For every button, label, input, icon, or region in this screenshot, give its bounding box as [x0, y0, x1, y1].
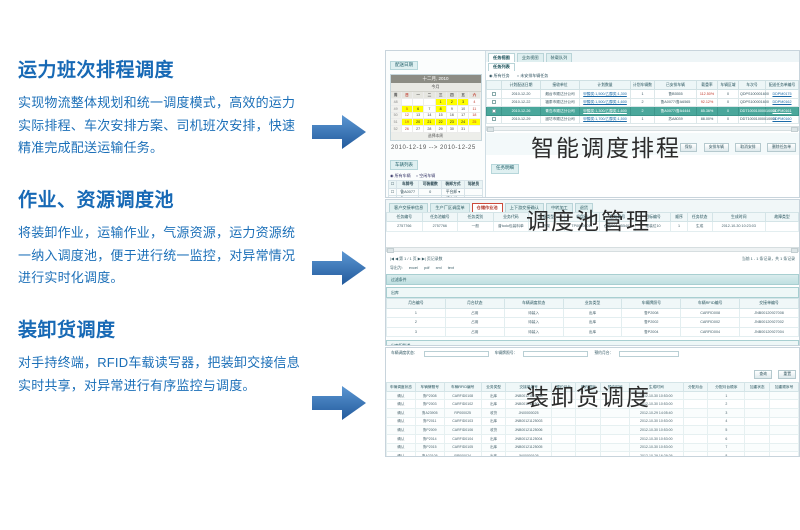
arrow-right-icon	[310, 112, 368, 152]
cell-load-rate: 92.12%	[697, 98, 718, 107]
col-weigh-order: 加重顺序号	[770, 383, 799, 392]
cell-plan-vehicles: 1	[631, 89, 655, 98]
cell-dispatch-status: 确认	[387, 452, 416, 457]
cell-booked-time	[601, 417, 630, 426]
cell-assigned-dock	[683, 391, 708, 400]
col-plate: 车牌号	[397, 181, 419, 189]
calendar-grid[interactable]: 周日一二 三四五六 481234 49567891011 50121314151…	[391, 92, 481, 132]
cell-business-type: 出库	[481, 443, 506, 452]
cell-task-status: 生成	[687, 222, 712, 231]
search-button[interactable]: 查询	[754, 370, 772, 379]
cell-weigh-status	[745, 443, 770, 452]
filter-label-dock: 预约月台：	[594, 351, 613, 357]
tab-task-view[interactable]: 任务视图	[488, 53, 515, 62]
col-vehicle-plate: 车辆牌照号	[622, 299, 681, 309]
cell-rfid: CARFID0104	[444, 434, 481, 443]
filter-input-plate[interactable]	[523, 351, 588, 357]
cell-weigh-status	[745, 434, 770, 443]
tab-plant-dispatch[interactable]: 生产厂区调度单	[430, 203, 469, 212]
cell-weigh-status	[745, 409, 770, 418]
cell-dock-status: 占用	[445, 308, 504, 317]
cell-area: 0	[718, 107, 739, 116]
table-row-selected[interactable]: 2010-12-26 青岛市顺达分公司 甲醇类:1,300/乙醇类:1,600 …	[487, 107, 799, 116]
cancel-assign-button[interactable]: 取消安排	[735, 143, 760, 152]
cell-plan-qty[interactable]: 甲醇类:1,300/乙醇类:1,600	[583, 109, 627, 113]
cell-booked-dock	[551, 426, 576, 435]
cell-create-time: 2012-10-30 10:23:03	[712, 222, 766, 231]
cell-business-type: 出库	[563, 308, 622, 317]
cell-plan-qty[interactable]: 甲醇类:1,500/乙醇类:1,300	[583, 92, 627, 96]
tab-load-queue[interactable]: 装载队列	[546, 53, 573, 62]
feature-description: 实现物流整体规划和统一调度模式，高效的运力实际排程、车次安排方案、司机班次安排，…	[18, 92, 300, 160]
cell-rfid: RP000024	[444, 452, 481, 457]
cell-booked-dock	[551, 452, 576, 457]
cell-plate: 鲁P2002	[622, 318, 681, 327]
scheduling-grid[interactable]: 计划配送日期 接收单位 计划数量 计划车辆数 已安排车辆 载重率 车辆区域 车次…	[486, 80, 799, 124]
cell-pool-no: 2757766	[422, 222, 458, 231]
task-filter-radios[interactable]: ◉ 所有任务 ○ 未安排车辆任务	[486, 71, 799, 80]
cell-business-type: 出库	[481, 417, 506, 426]
cell-dispatch-status: 待装入	[504, 308, 563, 317]
vehicle-table[interactable]: ☐ 车牌号 可装载数 装卸方式 驾驶员 ☐鲁A0077 0平台卸 ▾ ☐鲁B55…	[388, 180, 483, 198]
cell-handover-no: JNB00121125004	[506, 434, 551, 443]
cell-assigned-dock	[683, 443, 708, 452]
radio-idle-vehicles[interactable]: ○ 空闲车辆	[416, 173, 436, 178]
cell-assigned-order: 2	[708, 400, 745, 409]
cell-booked-order	[576, 426, 601, 435]
cell-receiver: 烟台市顺达分公司	[541, 89, 580, 98]
cell-dispatch-status: 确认	[387, 434, 416, 443]
delete-order-button[interactable]: 删除任务单	[767, 143, 796, 152]
table-row[interactable]: 2010-12-29 潍坊市顺达分公司 甲醇类:1,700/乙醇类:1,500 …	[487, 115, 799, 124]
filter-input-dispatch-status[interactable]	[424, 351, 489, 357]
cell-plate: 鲁P2015	[415, 443, 444, 452]
cell-receiver: 青岛市顺达分公司	[541, 107, 580, 116]
cell-rfid: CARFID002	[681, 318, 740, 327]
overlay-label-loading-dispatch: 装卸货调度	[526, 378, 651, 412]
cell-dispatch-status: 确认	[387, 443, 416, 452]
screenshot-dispatch-pool[interactable]: 客户交接单信息 生产厂区调度单 仓储作业池 上下游交接确认 中转加工 退货 任务…	[385, 199, 800, 346]
table-header-row: 月台编号 月台状态 车辆调度状态 业务类型 车辆牌照号 车辆RFID编号 交接单…	[387, 299, 799, 309]
cell-weigh-status	[745, 426, 770, 435]
radio-all-vehicles[interactable]: ◉ 所有车辆	[390, 173, 411, 178]
arrow-right-icon	[310, 383, 368, 423]
cell-plate: 鲁A23105	[415, 452, 444, 457]
cell-trip: QDPS100001600	[739, 89, 766, 98]
cell-plan-qty[interactable]: 甲醇类:1,700/乙醇类:1,500	[583, 117, 627, 121]
cell-weigh-status	[745, 452, 770, 457]
cell-plan-date: 2010-12-20	[502, 89, 541, 98]
table-row[interactable]: 确认 鲁P2011 CARFID0103 出库 JNB00121125003 2…	[387, 417, 799, 426]
cell-plate: 鲁P2009	[415, 426, 444, 435]
cell-assigned-order: 1	[708, 391, 745, 400]
table-row[interactable]: 确认 鲁P2014 CARFID0104 出库 JNB00121125004 2…	[387, 434, 799, 443]
cell-create-time: 2012-10-29 16:29:26	[630, 452, 684, 457]
col-order-no: 配送任务单编号	[766, 81, 799, 90]
reset-button[interactable]: 重置	[778, 370, 796, 379]
cell-assigned: 鲁B5555	[655, 89, 697, 98]
table-row[interactable]: 2010-12-22 福泰市顺达分公司 甲醇类:1,500/乙醇类:1,600 …	[487, 98, 799, 107]
col-dispatch-status: 车辆调度状态	[387, 383, 416, 392]
cell-trip: QDPS100001600	[739, 98, 766, 107]
cell-booked-time	[601, 434, 630, 443]
task-subtabbar[interactable]: 任务列表	[486, 62, 799, 72]
table-row[interactable]: 1 占用 待装入 出库 鲁P2008 CARFID008 JNB00120927…	[387, 308, 799, 317]
col-weigh-status: 加重状态	[745, 383, 770, 392]
cell-task-type: 一般	[458, 222, 494, 231]
cell-assigned-order: 5	[708, 426, 745, 435]
col-loadtype: 装卸方式	[442, 181, 465, 189]
col-task-type: 任务类别	[458, 212, 494, 222]
col-task-status: 任务状态	[687, 212, 712, 222]
cell-load-rate: 112.50%	[697, 89, 718, 98]
cell-weigh-order	[770, 434, 799, 443]
table-header-row: ☐ 车牌号 可装载数 装卸方式 驾驶员	[389, 181, 483, 189]
feature-block-transport-scheduling: 运力班次排程调度 实现物流整体规划和统一调度模式，高效的运力实际排程、车次安排方…	[18, 60, 300, 160]
cell-create-time: 2012-10-30 10:53:00	[630, 434, 684, 443]
cell-create-time: 2012-10-30 10:53:00	[630, 443, 684, 452]
cell-dock-status: 占用	[445, 318, 504, 327]
cell-plan-vehicles: 1	[631, 115, 655, 124]
screenshot-scheduling[interactable]: 配送日期 十二月, 2010 今月 周日一二 三四五六 481234 49567…	[385, 50, 800, 198]
cell-assigned-order: 7	[708, 443, 745, 452]
overlay-label-dispatch-pool: 调度池管理	[526, 202, 651, 236]
cell-handover-no: JNB00121125003	[506, 417, 551, 426]
cell-weigh-status	[745, 400, 770, 409]
cell-create-time: 2012-10-30 10:53:00	[630, 417, 684, 426]
cell-business-type: 出库	[481, 434, 506, 443]
arrow-right-icon	[310, 248, 368, 288]
cell-handover-no: JNB00120927008	[740, 308, 799, 317]
cell-dispatch-status: 确认	[387, 409, 416, 418]
pagination-bar[interactable]: |◀ ◀ 第 1 / 1 页 ▶ ▶| 页记录数 当前 1 - 1 条记录，共 …	[386, 254, 799, 264]
outbound-section-bar[interactable]: 出库	[386, 287, 799, 298]
calendar-footer[interactable]: 选择本周	[391, 133, 481, 140]
cell-trip: DDT10001000010001	[739, 107, 766, 116]
export-text[interactable]: text	[448, 265, 454, 270]
screenshot-stack: 配送日期 十二月, 2010 今月 周日一二 三四五六 481234 49567…	[385, 50, 800, 465]
cell-receiver: 潍坊市顺达分公司	[541, 115, 580, 124]
cell-plan-vehicles: 2	[631, 107, 655, 116]
cell-booked-order	[576, 443, 601, 452]
cell-trip: DDT10001000010001	[739, 115, 766, 124]
export-xml[interactable]: xml	[436, 265, 442, 270]
radio-all-tasks[interactable]: ◉ 所有任务	[489, 73, 510, 78]
cell-assigned-dock	[683, 400, 708, 409]
cell-dock-no: 3	[387, 327, 446, 336]
filter-label-plate: 车辆牌照号：	[495, 351, 518, 357]
cell-dock-no: 2	[387, 318, 446, 327]
cell-assigned-order: 8	[708, 452, 745, 457]
table-row[interactable]: ☐鲁A0077 0平台卸 ▾	[389, 188, 483, 196]
cell-assigned-order: 6	[708, 434, 745, 443]
cell-plan-date: 2010-12-29	[502, 115, 541, 124]
cell-business-type: 出库	[481, 400, 506, 409]
col-plan-vehicles: 计划车辆数	[631, 81, 655, 90]
table-row[interactable]: 2010-12-20 烟台市顺达分公司 甲醇类:1,500/乙醇类:1,300 …	[487, 89, 799, 98]
cell-booked-time	[601, 443, 630, 452]
col-plan-qty: 计划数量	[580, 81, 631, 90]
col-select	[487, 81, 502, 90]
cell-rfid: CARFID0105	[444, 443, 481, 452]
cell-handover-no: JNB00121125005	[506, 443, 551, 452]
cell-dispatch-status: 确认	[387, 391, 416, 400]
table-row[interactable]: 确认 鲁A23105 RP000024 出库 JN00000105 2012-1…	[387, 452, 799, 457]
cell-assigned: 苏A8039	[655, 115, 697, 124]
panel-title-vehicle-list: 车辆列表	[390, 160, 418, 170]
col-assigned-vehicles: 已安排车辆	[655, 81, 697, 90]
cell-assigned-dock	[683, 426, 708, 435]
cell-rfid: CARFID008	[681, 308, 740, 317]
col-plate: 车辆牌照号	[415, 383, 444, 392]
cell-fault-type	[766, 222, 799, 231]
col-handover-no: 交接单编号	[740, 299, 799, 309]
col-assigned-dock: 分配月台	[683, 383, 708, 392]
task-detail-button[interactable]: 任务明细	[491, 164, 519, 174]
cell-booked-order	[576, 452, 601, 457]
cell-plate: 鲁P2004	[622, 327, 681, 336]
screenshot-loading-dispatch[interactable]: 车辆调度状态： 车辆牌照号： 预约月台： 查询 重置 车辆调度状态 车辆牌照号 …	[385, 347, 800, 457]
table-row[interactable]: 3 占用 待装入 出库 鲁P2004 CARFID004 JNB00120927…	[387, 327, 799, 336]
cell-booked-dock	[551, 417, 576, 426]
tab-business-view[interactable]: 业务视图	[517, 53, 544, 62]
col-receiver: 接收单位	[541, 81, 580, 90]
cell-weigh-order	[770, 409, 799, 418]
cell-weigh-order	[770, 400, 799, 409]
cell-plan-date: 2010-12-26	[502, 107, 541, 116]
cell-rfid: CARFID0102	[444, 400, 481, 409]
pager-summary: 当前 1 - 1 条记录，共 1 条记录	[742, 256, 795, 262]
cell-plate: 鲁P2014	[415, 434, 444, 443]
cell-dock-status: 占用	[445, 327, 504, 336]
export-label: 导出为:	[390, 265, 403, 270]
cell-business-type: 出库	[563, 318, 622, 327]
cell-business-type: 收货	[481, 426, 506, 435]
cell-rfid: RP000025	[444, 409, 481, 418]
table-row[interactable]: 确认 鲁P2009 CARFID0106 收货 JNB00121125006 2…	[387, 426, 799, 435]
cell-business-type: 收货	[481, 409, 506, 418]
cell-rfid: CARFID0106	[444, 426, 481, 435]
horizontal-scrollbar[interactable]	[386, 247, 799, 252]
col-plan-date: 计划配送日期	[502, 81, 541, 90]
cell-handover-no: JNB00120927004	[740, 327, 799, 336]
cell-booked-time	[601, 426, 630, 435]
subtab-task-list[interactable]: 任务列表	[488, 63, 515, 72]
task-tabbar[interactable]: 任务视图 业务视图 装载队列	[486, 51, 799, 62]
feature-title: 运力班次排程调度	[18, 60, 300, 83]
loading-filter-row[interactable]: 车辆调度状态： 车辆牌照号： 预约月台：	[386, 348, 799, 360]
col-vehicle-dispatch-status: 车辆调度状态	[504, 299, 563, 309]
cell-weigh-order	[770, 426, 799, 435]
cell-order[interactable]: DDPM0175	[772, 92, 791, 96]
calendar-title: 十二月, 2010	[391, 75, 481, 83]
cell-plan-date: 2010-12-22	[502, 98, 541, 107]
cell-order[interactable]: DDPM0162	[772, 100, 791, 104]
cell-business-type: 出库	[481, 391, 506, 400]
calendar-widget[interactable]: 十二月, 2010 今月 周日一二 三四五六 481234 4956789101…	[390, 74, 482, 140]
calendar-subtitle[interactable]: 今月	[391, 83, 481, 92]
assign-vehicle-button[interactable]: 安排车辆	[704, 143, 729, 152]
col-biz-code: 业务代码	[493, 212, 529, 222]
dock-pool-grid[interactable]: 月台编号 月台状态 车辆调度状态 业务类型 车辆牌照号 车辆RFID编号 交接单…	[386, 298, 799, 337]
cell-weigh-order	[770, 443, 799, 452]
col-driver: 驾驶员	[464, 181, 482, 189]
table-header-row: 计划配送日期 接收单位 计划数量 计划车辆数 已安排车辆 载重率 车辆区域 车次…	[487, 81, 799, 90]
cell-load-rate: 85.36%	[697, 107, 718, 116]
col-task-no: 任务编号	[387, 212, 423, 222]
cell-plate: 鲁P2008	[415, 391, 444, 400]
col-dock-status: 月台状态	[445, 299, 504, 309]
cell-plate: 鲁P2003	[415, 400, 444, 409]
cell-area: 0	[718, 115, 739, 124]
cell-dispatch-status: 待装入	[504, 318, 563, 327]
cell-area: 0	[718, 89, 739, 98]
col-pool-no: 任务池编号	[422, 212, 458, 222]
export-excel[interactable]: excel	[409, 265, 418, 270]
feature-title: 作业、资源调度池	[18, 190, 300, 213]
feature-description: 对手持终端，RFID车载读写器，把装卸交接信息实时共享，对异常进行有序监控与调度…	[18, 352, 300, 398]
cell-assigned-order: 4	[708, 417, 745, 426]
radio-unassigned-tasks[interactable]: ○ 未安排车辆任务	[517, 73, 549, 78]
cell-assigned: 鲁A0077/鲁A4444	[655, 107, 697, 116]
cell-assigned-dock	[683, 452, 708, 457]
cell-load-rate: 88.00%	[697, 115, 718, 124]
col-business-type: 业务类型	[563, 299, 622, 309]
col-dock-no: 月台编号	[387, 299, 446, 309]
cell-dispatch-status: 待装入	[504, 327, 563, 336]
cell-dispatch-status: 确认	[387, 400, 416, 409]
cell-plan-qty[interactable]: 甲醇类:1,500/乙醇类:1,600	[583, 100, 627, 104]
cell-rfid: CARFID0108	[444, 391, 481, 400]
table-row[interactable]: 2 占用 待装入 出库 鲁P2002 CARFID002 JNB00120927…	[387, 318, 799, 327]
cell-create-time: 2012-10-30 10:53:00	[630, 426, 684, 435]
export-pdf[interactable]: pdf	[424, 265, 429, 270]
delivery-date-panel[interactable]: 配送日期 十二月, 2010 今月 周日一二 三四五六 481234 49567…	[386, 51, 486, 197]
cell-weigh-order	[770, 452, 799, 457]
cell-rfid: CARFID004	[681, 327, 740, 336]
cell-receiver: 福泰市顺达分公司	[541, 98, 580, 107]
cell-assigned-dock	[683, 417, 708, 426]
filter-conditions-bar[interactable]: 过滤条件	[386, 274, 799, 285]
cell-handover-no: JNB00121125006	[506, 426, 551, 435]
cell-handover-no: JN00000105	[506, 452, 551, 457]
cell-assigned-dock	[683, 409, 708, 418]
cell-booked-dock	[551, 443, 576, 452]
cell-business-type: 出库	[563, 327, 622, 336]
col-vehicle-rfid: 车辆RFID编号	[681, 299, 740, 309]
tab-customer-handover[interactable]: 客户交接单信息	[389, 203, 428, 212]
cell-booked-time	[601, 452, 630, 457]
col-business-type: 业务类型	[481, 383, 506, 392]
cell-task-no: 2757766	[387, 222, 423, 231]
task-view-panel[interactable]: 任务视图 业务视图 装载队列 任务列表 ◉ 所有任务 ○ 未安排车辆任务 计划配…	[486, 51, 799, 197]
cell-assigned-dock	[683, 434, 708, 443]
table-row[interactable]: 确认 鲁P2015 CARFID0105 出库 JNB00121125005 2…	[387, 443, 799, 452]
filter-input-dock[interactable]	[619, 351, 679, 357]
col-vehicle-area: 车辆区域	[718, 81, 739, 90]
cell-order: 1	[671, 222, 687, 231]
feature-title: 装卸货调度	[18, 320, 300, 343]
outbound-lane-bar[interactable]: 出库配货道	[386, 340, 799, 346]
cell-assigned: 鲁A0077/鲁A6565	[655, 98, 697, 107]
cell-plan-vehicles: 2	[631, 98, 655, 107]
cell-plate: 鲁A23905	[415, 409, 444, 418]
col-load-rate: 载重率	[697, 81, 718, 90]
panel-title-delivery-date: 配送日期	[390, 61, 418, 71]
col-rfid: 车辆RFID编号	[444, 383, 481, 392]
cell-booked-dock	[551, 434, 576, 443]
cell-weigh-order	[770, 417, 799, 426]
col-create-time: 生成时间	[712, 212, 766, 222]
cell-weigh-status	[745, 391, 770, 400]
table-row[interactable]: ☐鲁B5555 180槽车卸 ▾	[389, 196, 483, 198]
vehicle-filter-radios[interactable]: ◉ 所有车辆 ○ 空闲车辆	[388, 172, 483, 180]
cell-weigh-status	[745, 417, 770, 426]
cell-booked-order	[576, 417, 601, 426]
cell-area: 0	[718, 98, 739, 107]
feature-block-dispatch-pool: 作业、资源调度池 将装卸作业，运输作业，气源资源，运力资源统一纳入调度池，便于进…	[18, 190, 300, 290]
cell-dispatch-status: 确认	[387, 417, 416, 426]
cell-plate: 鲁P2011	[415, 417, 444, 426]
cell-weigh-order	[770, 391, 799, 400]
feature-block-loading-scheduling: 装卸货调度 对手持终端，RFID车载读写器，把装卸交接信息实时共享，对异常进行有…	[18, 320, 300, 397]
cell-business-type: 出库	[481, 452, 506, 457]
save-button[interactable]: 保存	[680, 143, 698, 152]
tab-warehouse-pool[interactable]: 仓储作业池	[472, 203, 503, 212]
cell-order[interactable]: DDPM0160	[772, 117, 791, 121]
overlay-label-scheduling: 智能调度排程	[531, 129, 681, 163]
col-assigned-order: 分配月台顺序	[708, 383, 745, 392]
feature-description: 将装卸作业，运输作业，气源资源，运力资源统一纳入调度池，便于进行统一监控，对异常…	[18, 222, 300, 290]
cell-plate: 鲁P2008	[622, 308, 681, 317]
cell-booked-order	[576, 434, 601, 443]
pager-controls[interactable]: |◀ ◀ 第 1 / 1 页 ▶ ▶| 页记录数	[390, 256, 442, 262]
col-fault-type: 故障类型	[766, 212, 799, 222]
cell-handover-no: JNB00120927002	[740, 318, 799, 327]
col-order: 顺序	[671, 212, 687, 222]
feature-list: 运力班次排程调度 实现物流整体规划和统一调度模式，高效的运力实际排程、车次安排方…	[18, 60, 300, 423]
cell-dock-no: 1	[387, 308, 446, 317]
date-range-label: 2010-12-19 --> 2010-12-25	[388, 141, 483, 153]
cell-rfid: CARFID0103	[444, 417, 481, 426]
col-trip-no: 车次号	[739, 81, 766, 90]
export-row[interactable]: 导出为: excel pdf xml text	[386, 264, 799, 272]
cell-order[interactable]: DDPM0161	[772, 109, 791, 113]
cell-biz-code: 普todo包装料单	[493, 222, 529, 231]
cell-assigned-order: 3	[708, 409, 745, 418]
col-checkbox: ☐	[389, 181, 397, 189]
col-capacity: 可装载数	[419, 181, 442, 189]
filter-label-dispatch-status: 车辆调度状态：	[391, 351, 418, 357]
cell-dispatch-status: 确认	[387, 426, 416, 435]
